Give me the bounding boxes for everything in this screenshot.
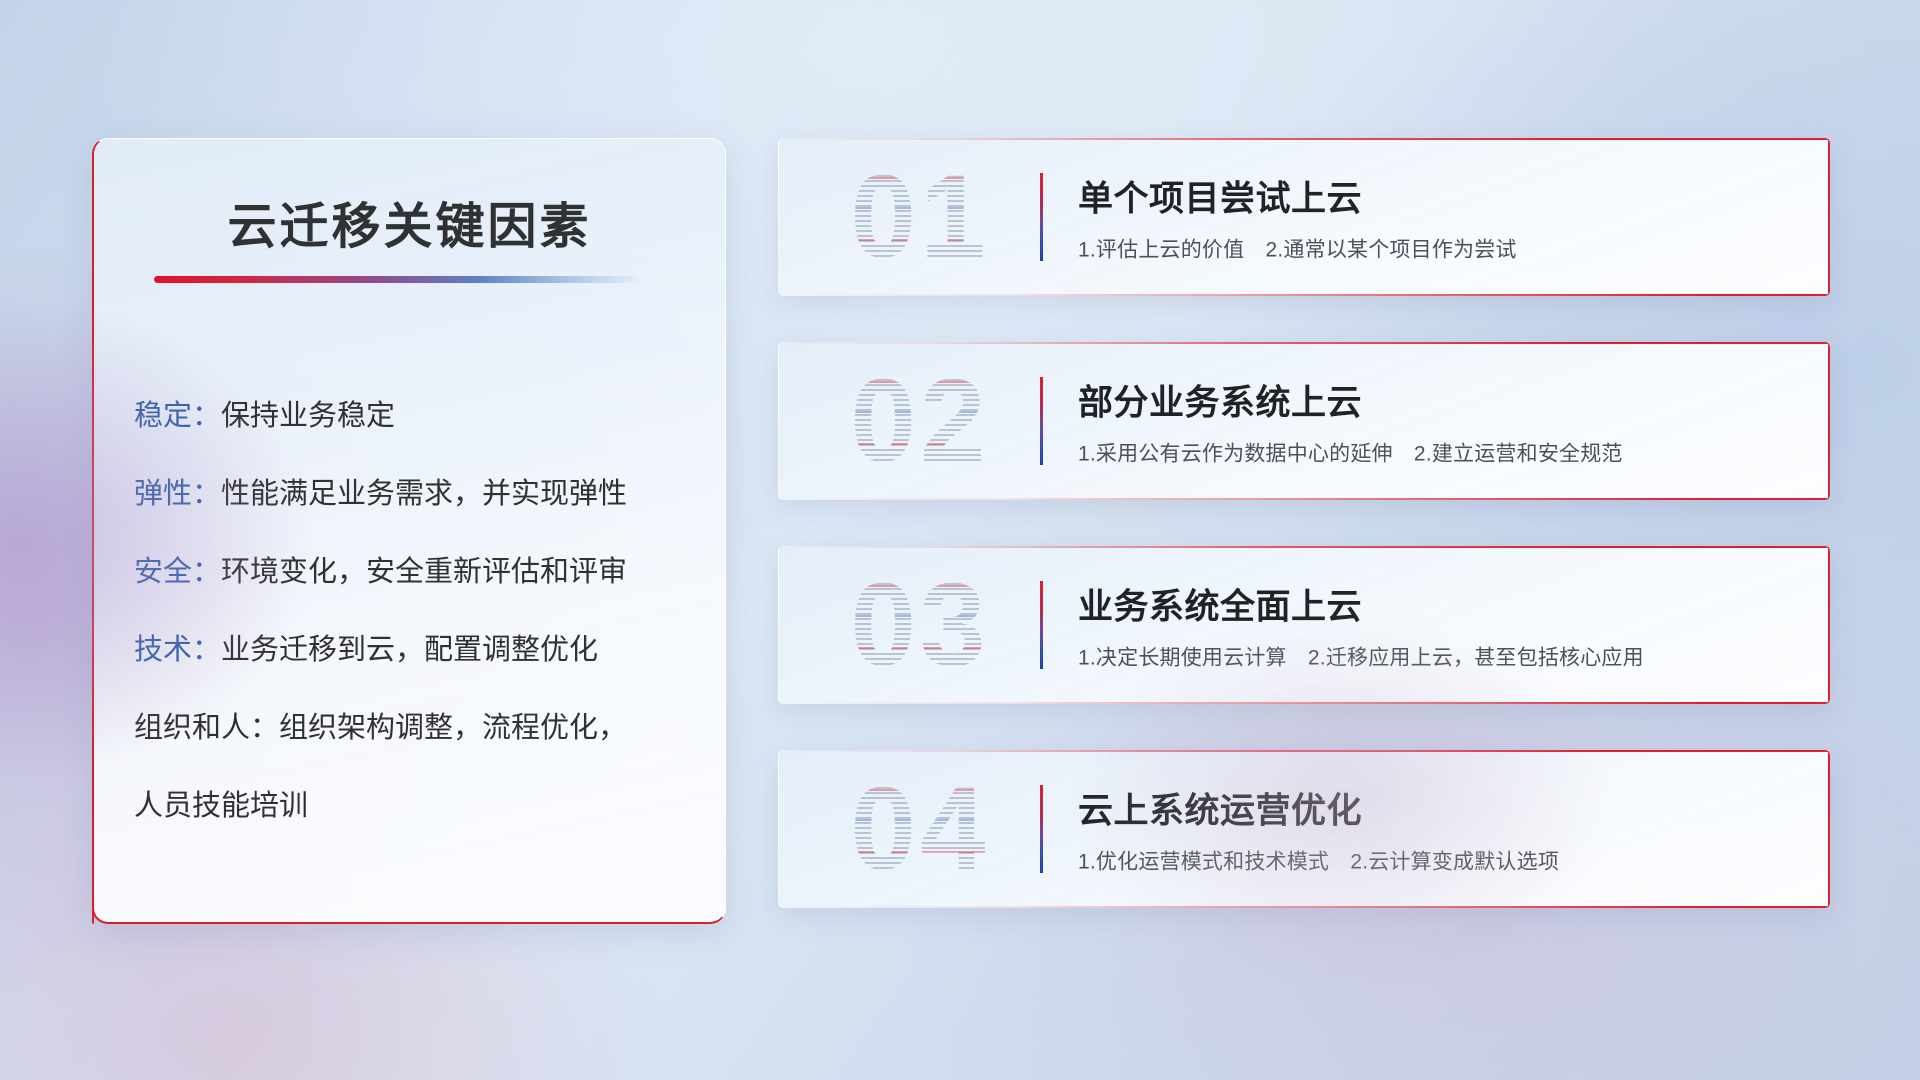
card-title: 单个项目尝试上云	[1078, 171, 1790, 222]
card-subtitle: 1.决定长期使用云计算 2.迁移应用上云，甚至包括核心应用	[1078, 642, 1790, 672]
card-body: 单个项目尝试上云 1.评估上云的价值 2.通常以某个项目作为尝试	[1078, 171, 1790, 264]
factor-item-security: 安全：环境变化，安全重新评估和评审	[134, 533, 691, 611]
factor-item-elasticity: 弹性：性能满足业务需求，并实现弹性	[134, 455, 691, 533]
factor-value: 性能满足业务需求，并实现弹性	[221, 478, 627, 510]
factor-key: 安全：	[134, 556, 221, 588]
factor-item-stability: 稳定：保持业务稳定	[134, 377, 691, 455]
factor-value: 保持业务稳定	[221, 400, 395, 432]
stage-number-glyph: 01	[816, 155, 1024, 279]
stage-number-glyph: 04	[816, 767, 1024, 891]
stage-card-04[interactable]: 04 04 云上系统运营优化 1.优化运营模式和技术模式 2.云计算变成默认选项	[778, 750, 1830, 908]
factor-item-organization-line2: 人员技能培训	[134, 767, 691, 845]
page-title: 云迁移关键因素	[94, 187, 725, 258]
factor-item-technology: 技术：业务迁移到云，配置调整优化	[134, 611, 691, 689]
slide-canvas: 云迁移关键因素 稳定：保持业务稳定 弹性：性能满足业务需求，并实现弹性 安全：环…	[0, 0, 1920, 1080]
factor-value: 环境变化，安全重新评估和评审	[221, 556, 627, 588]
card-bottom-accent	[778, 702, 1830, 704]
stage-card-03[interactable]: 03 03 业务系统全面上云 1.决定长期使用云计算 2.迁移应用上云，甚至包括…	[778, 546, 1830, 704]
card-left-edge	[778, 750, 779, 908]
card-bottom-accent	[778, 498, 1830, 500]
factor-value: 人员技能培训	[134, 790, 308, 822]
factor-key: 技术：	[134, 634, 221, 666]
factor-list: 稳定：保持业务稳定 弹性：性能满足业务需求，并实现弹性 安全：环境变化，安全重新…	[134, 377, 691, 845]
cloud-migration-factors-panel: 云迁移关键因素 稳定：保持业务稳定 弹性：性能满足业务需求，并实现弹性 安全：环…	[92, 138, 726, 924]
stage-number-glyph: 03	[816, 563, 1024, 687]
card-divider-bar	[1040, 173, 1043, 261]
factor-value: 业务迁移到云，配置调整优化	[221, 634, 598, 666]
factor-key: 稳定：	[134, 400, 221, 432]
card-left-edge	[778, 138, 779, 296]
card-subtitle: 1.优化运营模式和技术模式 2.云计算变成默认选项	[1078, 846, 1790, 876]
card-title: 部分业务系统上云	[1078, 375, 1790, 426]
card-subtitle: 1.评估上云的价值 2.通常以某个项目作为尝试	[1078, 234, 1790, 264]
factor-value: 组织和人：组织架构调整，流程优化，	[134, 712, 627, 744]
stage-number-glyph: 02	[816, 359, 1024, 483]
card-body: 云上系统运营优化 1.优化运营模式和技术模式 2.云计算变成默认选项	[1078, 783, 1790, 876]
stage-card-01[interactable]: 01 01 单个项目尝试上云 1.评估上云的价值 2.通常以某个项目作为尝试	[778, 138, 1830, 296]
stage-card-02[interactable]: 02 02 部分业务系统上云 1.采用公有云作为数据中心的延伸 2.建立运营和安…	[778, 342, 1830, 500]
card-subtitle: 1.采用公有云作为数据中心的延伸 2.建立运营和安全规范	[1078, 438, 1790, 468]
factor-key: 弹性：	[134, 478, 221, 510]
card-body: 部分业务系统上云 1.采用公有云作为数据中心的延伸 2.建立运营和安全规范	[1078, 375, 1790, 468]
migration-stage-card-list: 01 01 单个项目尝试上云 1.评估上云的价值 2.通常以某个项目作为尝试 0…	[778, 138, 1830, 954]
card-body: 业务系统全面上云 1.决定长期使用云计算 2.迁移应用上云，甚至包括核心应用	[1078, 579, 1790, 672]
factor-item-organization-line1: 组织和人：组织架构调整，流程优化，	[134, 689, 691, 767]
card-bottom-accent	[778, 906, 1830, 908]
card-bottom-accent	[778, 294, 1830, 296]
card-divider-bar	[1040, 581, 1043, 669]
card-title: 业务系统全面上云	[1078, 579, 1790, 630]
card-divider-bar	[1040, 785, 1043, 873]
card-title: 云上系统运营优化	[1078, 783, 1790, 834]
card-left-edge	[778, 546, 779, 704]
title-underline-rule	[154, 276, 644, 283]
card-divider-bar	[1040, 377, 1043, 465]
card-left-edge	[778, 342, 779, 500]
